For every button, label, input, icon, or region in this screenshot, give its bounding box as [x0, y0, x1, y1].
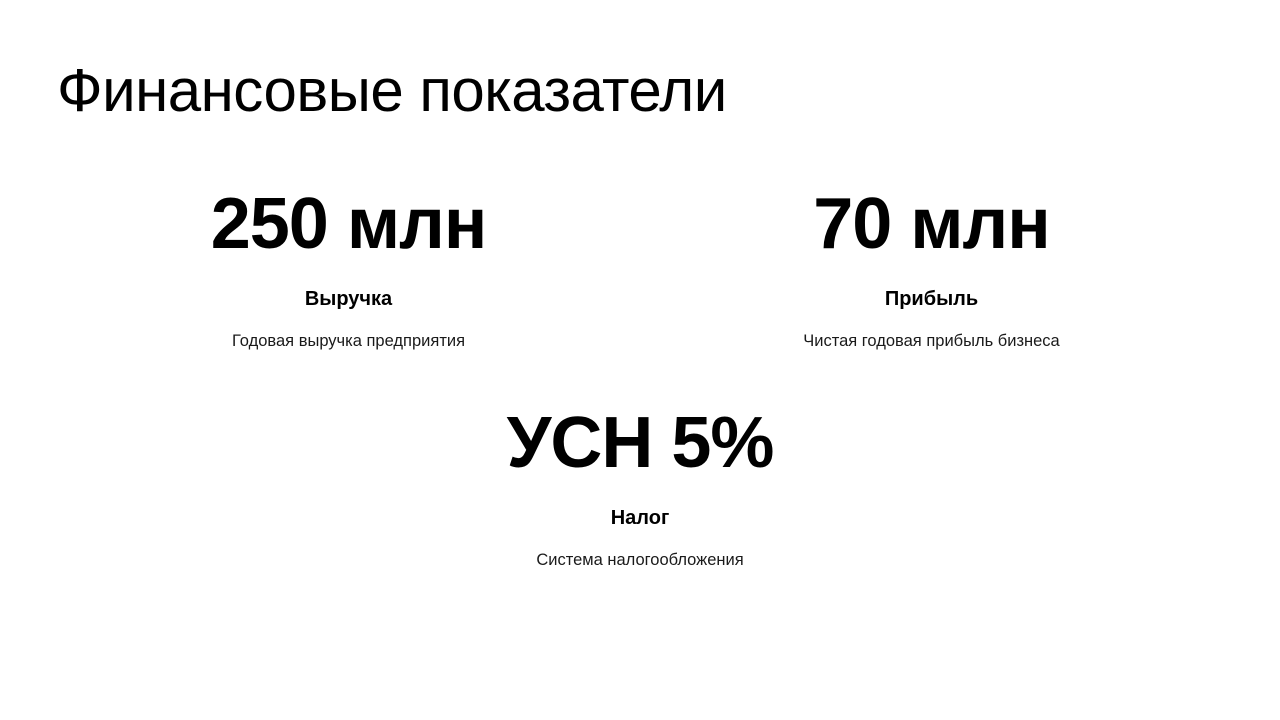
metric-card-tax: УСН 5% Налог Система налогообложения	[57, 405, 1223, 572]
metric-value: УСН 5%	[507, 405, 774, 481]
metric-description: Система налогообложения	[536, 550, 743, 571]
slide-canvas: Финансовые показатели 250 млн Выручка Го…	[0, 0, 1280, 720]
metric-card-profit: 70 млн Прибыль Чистая годовая прибыль би…	[640, 186, 1223, 353]
metric-label: Выручка	[305, 286, 392, 312]
metric-label: Прибыль	[885, 286, 978, 312]
metric-value: 70 млн	[813, 186, 1050, 262]
metric-label: Налог	[611, 505, 670, 531]
metric-description: Чистая годовая прибыль бизнеса	[803, 331, 1059, 352]
metric-value: 250 млн	[211, 186, 487, 262]
metrics-grid: 250 млн Выручка Годовая выручка предприя…	[57, 186, 1223, 572]
metric-description: Годовая выручка предприятия	[232, 331, 465, 352]
metric-card-revenue: 250 млн Выручка Годовая выручка предприя…	[57, 186, 640, 353]
page-title: Финансовые показатели	[57, 57, 727, 124]
